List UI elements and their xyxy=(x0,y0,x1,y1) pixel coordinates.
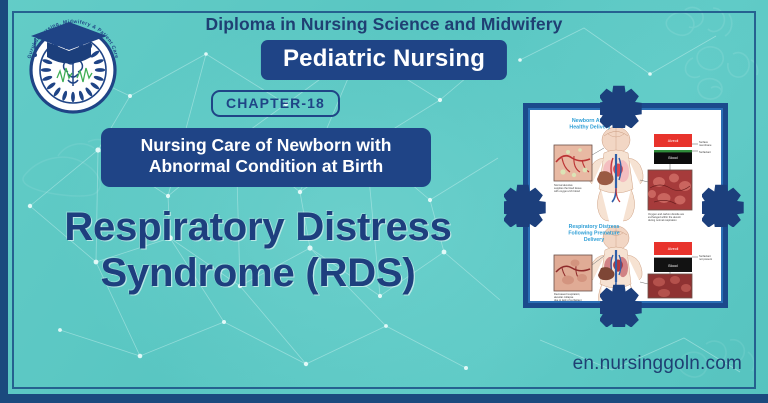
svg-text:Newborn After: Newborn After xyxy=(572,118,608,124)
svg-text:not present: not present xyxy=(699,257,712,261)
course-title-pill: Pediatric Nursing xyxy=(261,40,507,80)
poster-canvas: Gurukul Nursing, Midwifery & Patient Car… xyxy=(0,0,768,403)
svg-text:during normal respiration: during normal respiration xyxy=(648,218,677,222)
svg-text:Following Premature: Following Premature xyxy=(568,231,619,237)
poster-left-bar xyxy=(0,0,8,394)
rds-comparison-diagram: Alveoli Blood Newborn After xyxy=(530,110,721,301)
svg-text:with oxygen-rich blood: with oxygen-rich blood xyxy=(554,189,580,193)
unit-title-line-2: Abnormal Condition at Birth xyxy=(115,156,417,177)
poster-bottom-bar xyxy=(0,394,768,403)
unit-title-pill: Nursing Care of Newborn with Abnormal Co… xyxy=(101,128,431,187)
program-title: Diploma in Nursing Science and Midwifery xyxy=(0,14,768,35)
page-title: Respiratory Distress Syndrome (RDS) xyxy=(4,205,512,296)
svg-text:due to lack of surfactant: due to lack of surfactant xyxy=(554,298,582,301)
svg-text:Blood: Blood xyxy=(668,264,677,268)
svg-text:Blood: Blood xyxy=(668,156,677,160)
svg-text:Alveoli: Alveoli xyxy=(668,139,679,143)
unit-title-line-1: Nursing Care of Newborn with xyxy=(115,135,417,156)
illustration-card: Alveoli Blood Newborn After xyxy=(523,103,728,308)
page-title-line-1: Respiratory Distress xyxy=(4,205,512,251)
page-title-line-2: Syndrome (RDS) xyxy=(4,251,512,297)
illustration-frame: Alveoli Blood Newborn After xyxy=(528,108,723,303)
svg-text:Alveoli: Alveoli xyxy=(668,247,679,251)
svg-text:Respiratory Distress: Respiratory Distress xyxy=(569,224,620,230)
website-url: en.nursinggoln.com xyxy=(573,353,742,375)
svg-text:Delivery: Delivery xyxy=(584,237,604,243)
svg-text:Healthy Delivery: Healthy Delivery xyxy=(569,125,610,131)
svg-text:membrane: membrane xyxy=(699,143,712,147)
svg-text:Surfactant: Surfactant xyxy=(699,150,711,154)
chapter-badge: CHAPTER-18 xyxy=(211,90,340,117)
